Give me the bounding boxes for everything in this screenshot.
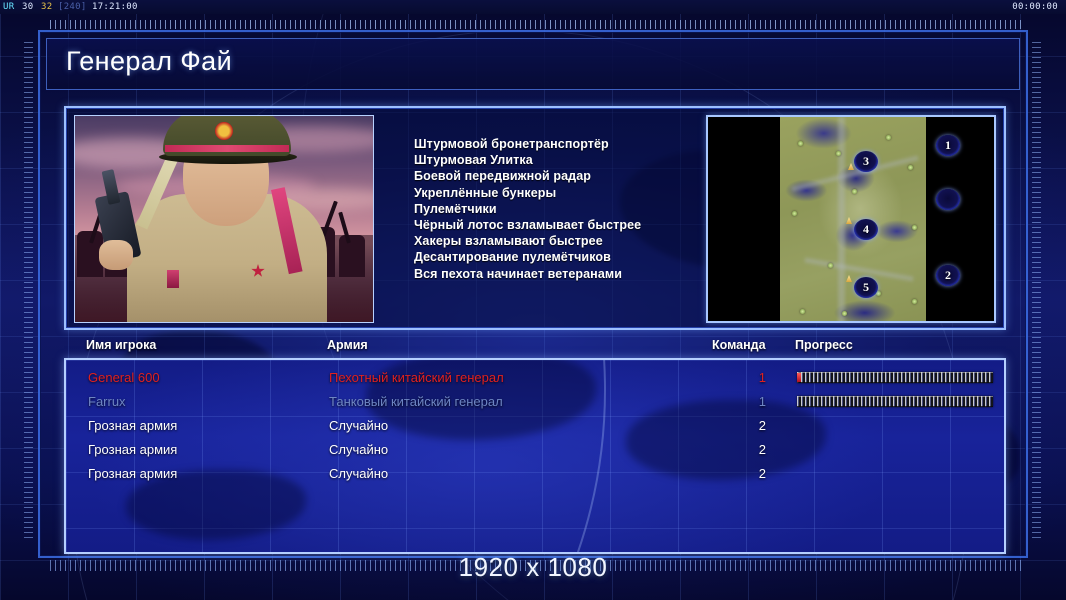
minimap-supply — [846, 275, 852, 282]
player-team[interactable]: 2 — [734, 462, 766, 486]
general-portrait — [74, 115, 374, 323]
ability-item: Штурмовая Улитка — [414, 152, 686, 168]
minimap-tree — [912, 225, 917, 230]
ability-item: Вся пехота начинает ветеранами — [414, 266, 686, 282]
status-timestamp: 17:21:00 — [92, 0, 138, 14]
table-row[interactable]: Грозная армияСлучайно2 — [66, 414, 1004, 438]
player-name[interactable]: Грозная армия — [88, 414, 177, 438]
status-bracket: [240] — [58, 0, 87, 14]
minimap-start-position-4[interactable]: 4 — [854, 219, 878, 240]
player-army[interactable]: Случайно — [329, 438, 388, 462]
portrait-medal — [167, 270, 179, 288]
ability-item: Укреплённые бункеры — [414, 185, 686, 201]
ability-item: Штурмовой бронетранспортёр — [414, 136, 686, 152]
troop-silhouette — [339, 235, 365, 277]
player-army[interactable]: Пехотный китайский генерал — [329, 366, 504, 390]
start-position-label: 1 — [945, 138, 951, 153]
player-name[interactable]: Грозная армия — [88, 462, 177, 486]
progress-cell — [797, 390, 993, 401]
player-army[interactable]: Танковый китайский генерал — [329, 390, 503, 414]
table-row[interactable]: Грозная армияСлучайно2 — [66, 438, 1004, 462]
ability-item: Боевой передвижной радар — [414, 168, 686, 184]
player-army[interactable]: Случайно — [329, 462, 388, 486]
minimap-tree — [912, 299, 917, 304]
minimap-terrain: 13425 — [780, 117, 926, 321]
header-player: Имя игрока — [86, 338, 156, 352]
status-clock: 00:00:00 — [1012, 0, 1058, 14]
ruler-ticks-left — [24, 42, 33, 542]
player-team[interactable]: 1 — [734, 390, 766, 414]
header-army: Армия — [327, 338, 368, 352]
ability-item: Хакеры взламывают быстрее — [414, 233, 686, 249]
minimap-preview[interactable]: 13425 — [706, 115, 996, 323]
start-position-label: 3 — [863, 154, 869, 169]
general-ability-list: Штурмовой бронетранспортёр Штурмовая Ули… — [414, 136, 686, 282]
progress-bar-marker — [797, 373, 801, 382]
minimap-start-position-unassigned[interactable] — [936, 189, 960, 210]
progress-cell — [797, 366, 993, 377]
header-team: Команда — [712, 338, 766, 352]
player-team[interactable]: 2 — [734, 438, 766, 462]
start-position-label: 2 — [945, 268, 951, 283]
header-progress: Прогресс — [795, 338, 853, 352]
ability-item: Чёрный лотос взламывает быстрее — [414, 217, 686, 233]
minimap-tree — [842, 311, 847, 316]
general-info-panel: Штурмовой бронетранспортёр Штурмовая Ули… — [64, 106, 1006, 330]
ruler-ticks-top — [50, 20, 1022, 29]
game-lobby-screen: UR 30 32 [240] 17:21:00 00:00:00 Генерал… — [0, 0, 1066, 600]
minimap-tree — [800, 309, 805, 314]
status-mode: UR — [3, 0, 14, 14]
status-fps-alt: 32 — [41, 0, 52, 14]
player-team[interactable]: 2 — [734, 414, 766, 438]
progress-bar — [797, 372, 993, 383]
player-name[interactable]: Farrux — [88, 390, 126, 414]
minimap-tree — [798, 141, 803, 146]
player-name[interactable]: General 600 — [88, 366, 160, 390]
minimap-tree — [792, 211, 797, 216]
ruler-ticks-right — [1032, 42, 1041, 542]
minimap-start-position-1[interactable]: 1 — [936, 135, 960, 156]
minimap-start-position-2[interactable]: 2 — [936, 265, 960, 286]
player-table: General 600Пехотный китайский генерал1Fa… — [64, 358, 1006, 554]
ability-item: Пулемётчики — [414, 201, 686, 217]
minimap-start-position-5[interactable]: 5 — [854, 277, 878, 298]
minimap-tree — [828, 263, 833, 268]
table-row[interactable]: Грозная армияСлучайно2 — [66, 462, 1004, 486]
table-row[interactable]: General 600Пехотный китайский генерал1 — [66, 366, 1004, 390]
player-name[interactable]: Грозная армия — [88, 438, 177, 462]
top-status-bar: UR 30 32 [240] 17:21:00 00:00:00 — [0, 0, 1066, 14]
minimap-start-position-3[interactable]: 3 — [854, 151, 878, 172]
minimap-tree — [886, 135, 891, 140]
page-title: Генерал Фай — [66, 46, 232, 77]
minimap-supply — [848, 163, 854, 170]
portrait-cap-band — [165, 145, 289, 152]
table-row[interactable]: FarruxТанковый китайский генерал1 — [66, 390, 1004, 414]
portrait-cap-emblem — [215, 122, 233, 140]
status-fps: 30 — [22, 0, 33, 14]
player-table-headers: Имя игрока Армия Команда Прогресс — [64, 338, 1006, 358]
resolution-label: 1920 x 1080 — [0, 552, 1066, 583]
minimap-tree — [852, 189, 857, 194]
minimap-supply — [846, 217, 852, 224]
progress-bar — [797, 396, 993, 407]
player-army[interactable]: Случайно — [329, 414, 388, 438]
portrait-hand — [99, 240, 133, 270]
player-team[interactable]: 1 — [734, 366, 766, 390]
start-position-label: 4 — [863, 222, 869, 237]
minimap-tree — [908, 165, 913, 170]
minimap-road — [838, 117, 845, 323]
start-position-label: 5 — [863, 280, 869, 295]
ability-item: Десантирование пулемётчиков — [414, 249, 686, 265]
minimap-tree — [836, 151, 841, 156]
